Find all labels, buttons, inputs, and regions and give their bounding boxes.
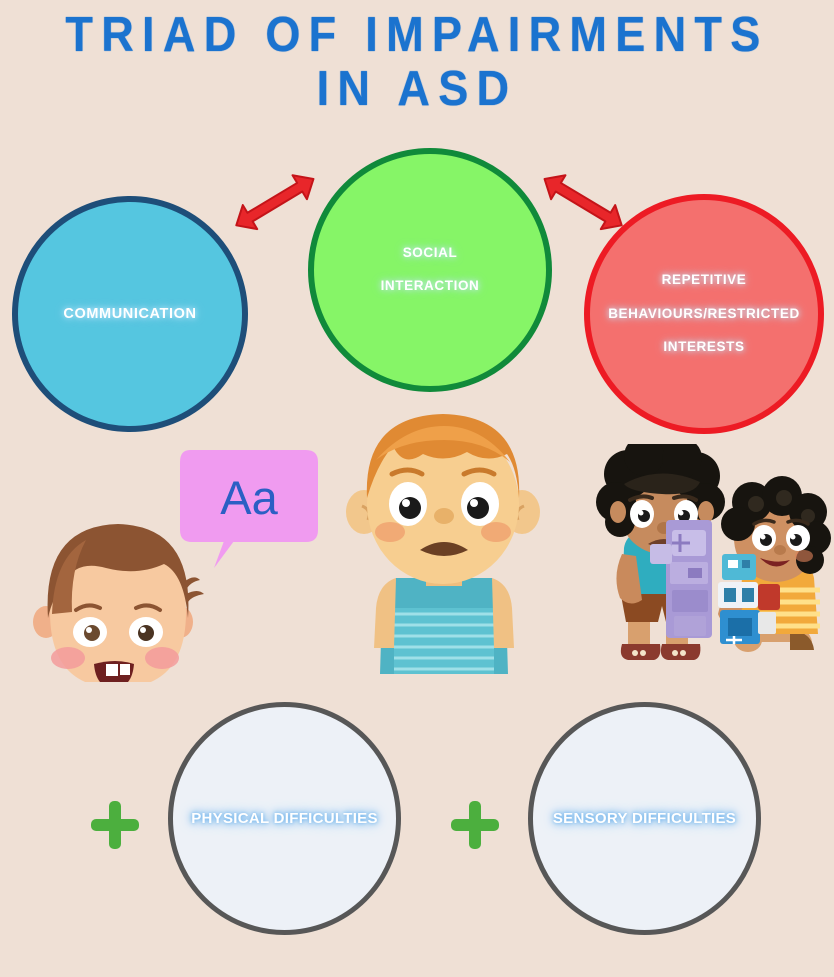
triad-circle-social-interaction[interactable]: SOCIAL INTERACTION (308, 148, 552, 392)
plus-icon-physical (88, 798, 142, 852)
additional-label-sensory-difficulties: SENSORY DIFFICULTIES (553, 810, 736, 827)
double-arrow-icon-left (224, 172, 334, 246)
triad-label-social-interaction: SOCIAL INTERACTION (361, 245, 500, 296)
illustration-sad-boy (334, 412, 554, 674)
illustration-boy-speaking: Aa (28, 442, 328, 682)
infographic-canvas: TRIAD OF IMPAIRMENTS IN ASD COMMUNICATIO… (0, 0, 834, 977)
triad-label-repetitive-line1: REPETITIVE (598, 272, 810, 289)
additional-circle-sensory-difficulties[interactable]: SENSORY DIFFICULTIES (528, 702, 761, 935)
triad-label-social-line1: SOCIAL (371, 245, 490, 262)
speech-bubble-text: Aa (220, 471, 278, 524)
triad-label-social-line2: INTERACTION (371, 278, 490, 295)
page-title: TRIAD OF IMPAIRMENTS IN ASD (33, 8, 800, 116)
additional-circle-physical-difficulties[interactable]: PHYSICAL DIFFICULTIES (168, 702, 401, 935)
triad-label-repetitive: REPETITIVE BEHAVIOURS/RESTRICTED INTERES… (588, 272, 820, 356)
triad-circle-communication[interactable]: COMMUNICATION (12, 196, 248, 432)
illustration-two-children-playing (592, 444, 834, 686)
triad-label-communication: COMMUNICATION (53, 305, 206, 323)
double-arrow-icon-right (524, 172, 634, 246)
triad-label-repetitive-line3: INTERESTS (598, 339, 810, 356)
additional-label-physical-difficulties: PHYSICAL DIFFICULTIES (191, 810, 378, 827)
plus-icon-sensory (448, 798, 502, 852)
triad-label-repetitive-line2: BEHAVIOURS/RESTRICTED (598, 306, 810, 323)
